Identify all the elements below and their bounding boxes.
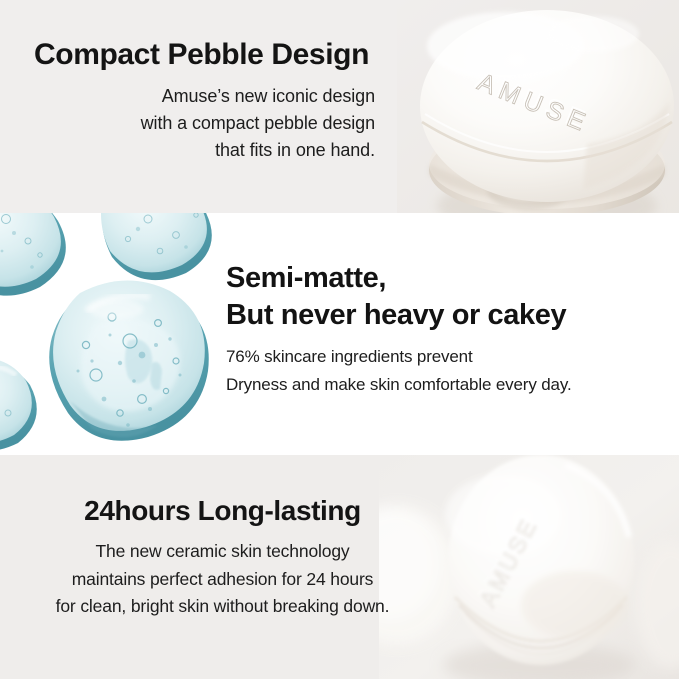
- panel2-text-block: Semi-matte, But never heavy or cakey 76%…: [226, 260, 666, 398]
- product-feature-page: AMUSE AMUSE Compact Pebble Design Amuse’…: [0, 0, 679, 679]
- panel1-text-block: Compact Pebble Design Amuse’s new iconic…: [0, 38, 378, 165]
- panel1-body-line-2: with a compact pebble design: [0, 110, 378, 137]
- panel3-headline: 24hours Long-lasting: [10, 495, 435, 527]
- panel3-body-line-2: maintains perfect adhesion for 24 hours: [10, 566, 435, 594]
- panel3-body-line-3: for clean, bright skin without breaking …: [10, 593, 435, 621]
- skincare-gel-droplets-photo: [0, 213, 235, 455]
- panel2-body-line-1: 76% skincare ingredients prevent: [226, 343, 666, 371]
- panel2-headline-line-2: But never heavy or cakey: [226, 299, 566, 331]
- panel-semi-matte-never-heavy: Semi-matte, But never heavy or cakey 76%…: [0, 213, 679, 455]
- panel2-headline: Semi-matte, But never heavy or cakey: [226, 260, 666, 334]
- pebble-compact-closed-photo: AMUSE AMUSE: [397, 0, 679, 213]
- panel2-body-line-2: Dryness and make skin comfortable every …: [226, 371, 666, 399]
- panel3-text-block: 24hours Long-lasting The new ceramic ski…: [10, 495, 435, 621]
- panel1-body-line-3: that fits in one hand.: [0, 137, 378, 164]
- panel1-headline: Compact Pebble Design: [0, 38, 378, 73]
- panel3-body-line-1: The new ceramic skin technology: [10, 538, 435, 566]
- panel1-body-line-1: Amuse’s new iconic design: [0, 83, 378, 110]
- panel2-headline-line-1: Semi-matte,: [226, 262, 386, 294]
- panel-24hours-long-lasting: AMUSE AMUSE 24hours Long-lasting The new…: [0, 455, 679, 679]
- panel-compact-pebble-design: AMUSE AMUSE Compact Pebble Design Amuse’…: [0, 0, 679, 213]
